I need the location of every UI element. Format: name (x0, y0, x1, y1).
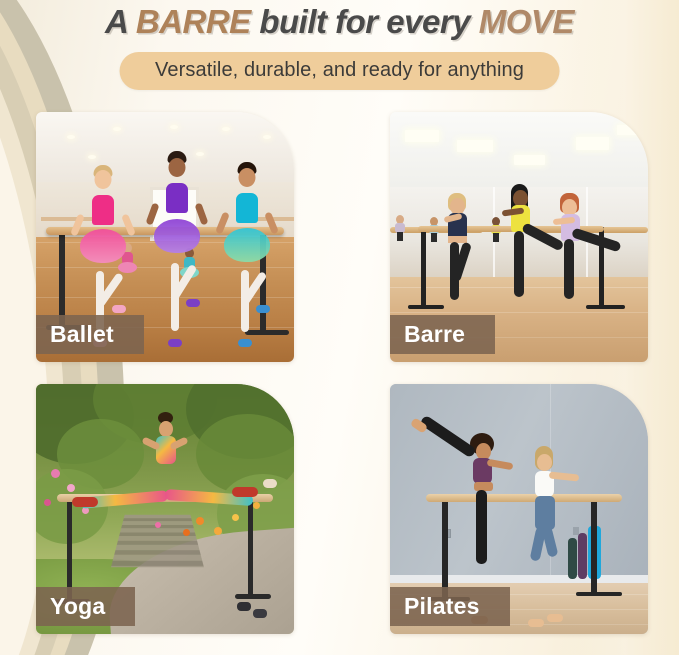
card-pilates[interactable]: Pilates (390, 384, 648, 634)
card-label-barre: Barre (390, 315, 495, 354)
title-phrase-built-for-every: built for every (259, 3, 470, 40)
title-word-move: MOVE (479, 3, 574, 40)
card-label-ballet: Ballet (36, 315, 144, 354)
subtitle-pill: Versatile, durable, and ready for anythi… (119, 52, 560, 90)
title-word-barre: BARRE (136, 3, 251, 40)
card-ballet[interactable]: Ballet (36, 112, 294, 362)
page-title: A BARRE built for every MOVE (0, 2, 679, 42)
card-label-pilates: Pilates (390, 587, 510, 626)
category-grid: Ballet (36, 112, 648, 642)
infographic-page: A BARRE built for every MOVE Versatile, … (0, 0, 679, 655)
card-label-yoga: Yoga (36, 587, 135, 626)
card-barre[interactable]: Barre (390, 112, 648, 362)
card-yoga[interactable]: Yoga (36, 384, 294, 634)
title-word-a: A (105, 3, 127, 40)
